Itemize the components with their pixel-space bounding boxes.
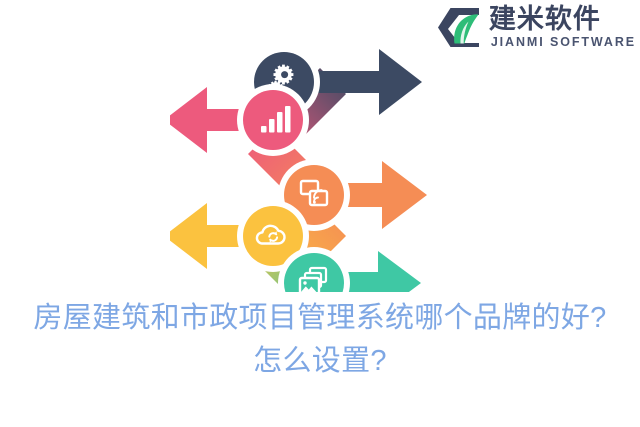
brand-text-block: 建米软件 JIANMI SOFTWARE — [489, 5, 636, 50]
process-step-5[interactable] — [278, 247, 421, 292]
brand-name-en: JIANMI SOFTWARE — [489, 35, 636, 50]
jianmi-leaf-bracket-logo-icon — [435, 3, 483, 51]
page-title-line-1: 房屋建筑和市政项目管理系统哪个品牌的好? — [0, 297, 640, 340]
zigzag-arrow-process-diagram — [170, 40, 430, 292]
process-step-2[interactable] — [170, 84, 309, 156]
brand-logo: 建米软件 JIANMI SOFTWARE — [435, 3, 636, 51]
page-title-line-2: 怎么设置? — [0, 340, 640, 383]
page-title: 房屋建筑和市政项目管理系统哪个品牌的好? 怎么设置? — [0, 297, 640, 383]
process-diagram-svg — [170, 40, 430, 292]
brand-name-cn: 建米软件 — [489, 5, 601, 34]
